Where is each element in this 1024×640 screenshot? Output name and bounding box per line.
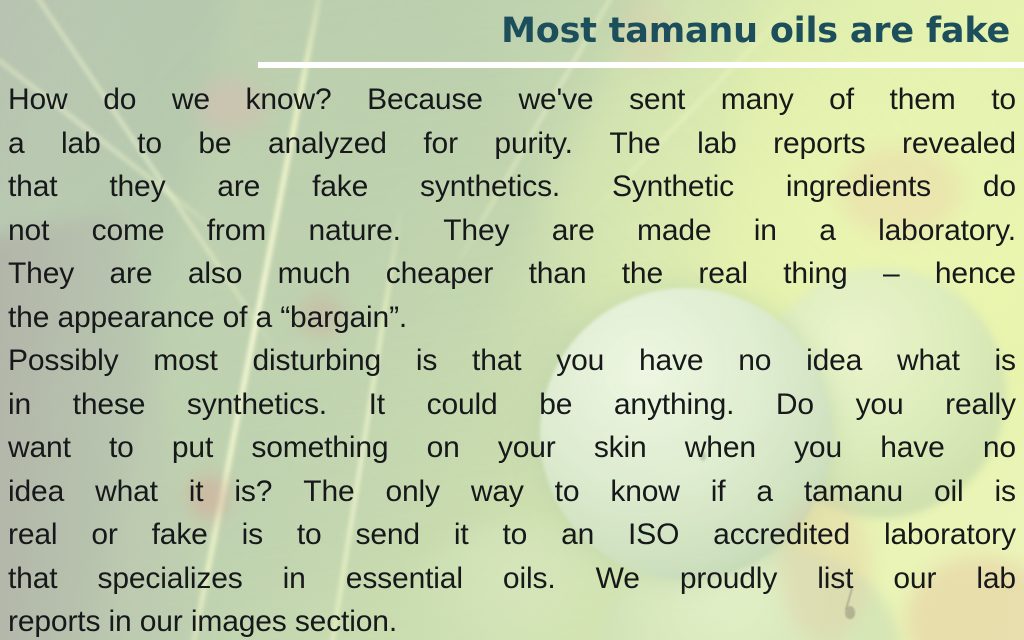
body-line: inthesesynthetics.Itcouldbeanything.Doyo… [8,383,1016,427]
body-line: Theyarealsomuchcheaperthantherealthing–h… [8,252,1016,296]
page-title: Most tamanu oils are fake [0,6,1010,56]
info-card: Most tamanu oils are fake Howdoweknow?Be… [0,0,1024,640]
paragraph-1: Howdoweknow?Becausewe'vesentmanyofthemto… [8,78,1016,339]
body-line: Howdoweknow?Becausewe'vesentmanyofthemto [8,78,1016,122]
paragraph-2: Possiblymostdisturbingisthatyouhavenoide… [8,339,1016,640]
title-underline-rule [258,62,1024,68]
body-line: wanttoputsomethingonyourskinwhenyouhaven… [8,426,1016,470]
body-line: thattheyarefakesynthetics.Syntheticingre… [8,165,1016,209]
body-line: notcomefromnature.Theyaremadeinalaborato… [8,209,1016,253]
body-line: the appearance of a “bargain”. [8,296,1016,340]
body-line: reports in our images section. [8,600,1016,640]
body-line: thatspecializesinessentialoils.Weproudly… [8,557,1016,601]
body-line: Possiblymostdisturbingisthatyouhavenoide… [8,339,1016,383]
body-line: alabtobeanalyzedforpurity.Thelabreportsr… [8,122,1016,166]
body-copy: Howdoweknow?Becausewe'vesentmanyofthemto… [8,78,1016,640]
body-line: realorfakeistosendittoanISOaccreditedlab… [8,513,1016,557]
body-line: ideawhatitis?Theonlywaytoknowifatamanuoi… [8,470,1016,514]
content-layer: Most tamanu oils are fake Howdoweknow?Be… [0,0,1024,640]
